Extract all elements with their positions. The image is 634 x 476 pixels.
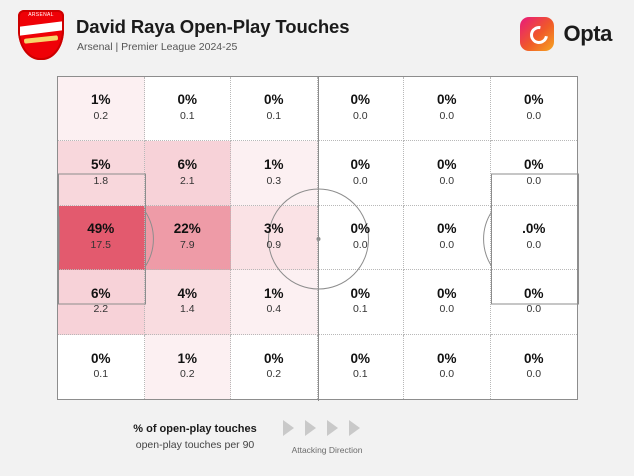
heatmap-cell: 0%0.0 [404,335,491,399]
heatmap-cell-percent: 1% [177,352,197,367]
crest-label: ARSENAL [18,12,64,18]
heatmap-cell-per90: 0.0 [353,239,368,253]
heatmap-cell-per90: 0.0 [526,239,541,253]
heatmap-cell-percent: 0% [437,158,457,173]
heatmap-cell-percent: 0% [524,158,544,173]
heatmap-cell: 3%0.9 [231,206,318,270]
heatmap-cell-per90: 0.4 [266,303,281,317]
heatmap-cell-per90: 1.4 [180,303,195,317]
heatmap-cell-percent: 0% [350,287,370,302]
heatmap-cell: 0%0.0 [491,335,578,399]
page-subtitle: Arsenal | Premier League 2024-25 [77,41,237,53]
heatmap-cell: 0%0.1 [318,335,405,399]
heatmap-cell: 5%1.8 [58,141,145,205]
heatmap-cell-per90: 0.0 [439,110,454,124]
heatmap-cell: 0%0.1 [145,77,232,141]
heatmap-cell: 0%0.0 [491,141,578,205]
heatmap-cell-per90: 17.5 [91,239,111,253]
arrow-right-icon [305,420,316,436]
attacking-direction-label: Attacking Direction [283,445,371,455]
heatmap-cell: 1%0.2 [145,335,232,399]
legend-primary-label: % of open-play touches [100,423,290,435]
footer: % of open-play touches open-play touches… [0,408,634,476]
heatmap-cell-per90: 0.2 [266,368,281,382]
heatmap-cell-percent: 6% [177,158,197,173]
heatmap-cell-per90: 0.2 [180,368,195,382]
heatmap-cell-per90: 0.3 [266,175,281,189]
heatmap-cell-percent: 1% [264,287,284,302]
legend-secondary-label: open-play touches per 90 [100,439,290,451]
heatmap-cell-percent: 5% [91,158,111,173]
heatmap-cell: 0%0.0 [318,206,405,270]
heatmap-cell-percent: 3% [264,222,284,237]
heatmap-cell-percent: 0% [524,93,544,108]
page-title: David Raya Open-Play Touches [76,16,349,38]
heatmap-cell: .0%0.0 [491,206,578,270]
heatmap-cell-percent: 0% [437,352,457,367]
heatmap-cell-per90: 2.2 [93,303,108,317]
heatmap-cell-percent: 0% [350,222,370,237]
header: ARSENAL David Raya Open-Play Touches Ars… [0,0,634,68]
heatmap-cell-percent: 49% [87,222,114,237]
heatmap-cell-percent: 0% [91,352,111,367]
heatmap-cell-per90: 2.1 [180,175,195,189]
heatmap-cell-per90: 0.0 [526,110,541,124]
heatmap-cell-percent: 0% [437,93,457,108]
heatmap-cell: 49%17.5 [58,206,145,270]
heatmap-cell-per90: 0.0 [526,303,541,317]
arrow-right-icon [327,420,338,436]
heatmap-cell: 0%0.0 [491,270,578,334]
heatmap-cell-percent: 1% [91,93,111,108]
legend: % of open-play touches open-play touches… [100,423,290,451]
heatmap-cell-per90: 0.1 [353,303,368,317]
heatmap-cell: 0%0.0 [318,77,405,141]
heatmap-cell: 0%0.1 [58,335,145,399]
heatmap-cell: 0%0.2 [231,335,318,399]
heatmap-cell: 0%0.0 [404,270,491,334]
heatmap-cell-percent: 0% [350,93,370,108]
heatmap-cell-per90: 1.8 [93,175,108,189]
arsenal-crest-icon: ARSENAL [18,10,64,60]
heatmap-cell: 1%0.4 [231,270,318,334]
heatmap-cell: 0%0.0 [404,141,491,205]
heatmap-cell-per90: 0.2 [93,110,108,124]
heatmap-cell-percent: 0% [524,287,544,302]
heatmap-cell: 0%0.0 [491,77,578,141]
heatmap-cell-per90: 0.0 [439,368,454,382]
heatmap-cell-per90: 7.9 [180,239,195,253]
arrow-right-icon [283,420,294,436]
heatmap-cell-percent: .0% [522,222,545,237]
arrow-right-icon [349,420,360,436]
heatmap-cell-percent: 6% [91,287,111,302]
heatmap-cell-per90: 0.1 [93,368,108,382]
heatmap-cell-per90: 0.0 [526,368,541,382]
heatmap-cell-per90: 0.0 [353,175,368,189]
heatmap-cell: 1%0.3 [231,141,318,205]
heatmap-cell-percent: 0% [437,287,457,302]
opta-mark-icon [520,17,554,51]
heatmap-cell: 22%7.9 [145,206,232,270]
heatmap-cell: 1%0.2 [58,77,145,141]
heatmap-cell-per90: 0.0 [439,303,454,317]
heatmap-cell: 0%0.0 [318,141,405,205]
heatmap-cell-percent: 0% [264,352,284,367]
heatmap-cell-per90: 0.1 [266,110,281,124]
heatmap-cell-percent: 4% [177,287,197,302]
heatmap-cell: 6%2.2 [58,270,145,334]
heatmap-cell: 4%1.4 [145,270,232,334]
heatmap-cell: 0%0.0 [404,77,491,141]
heatmap-cell-per90: 0.0 [526,175,541,189]
opta-logo: Opta [520,17,612,51]
heatmap-cell: 0%0.0 [404,206,491,270]
heatmap-cell-percent: 0% [437,222,457,237]
heatmap-cell-percent: 0% [524,352,544,367]
pitch-heatmap: 1%0.20%0.10%0.10%0.00%0.00%0.05%1.86%2.1… [57,76,578,400]
heatmap-cell-percent: 0% [350,352,370,367]
heatmap-cell: 0%0.1 [318,270,405,334]
heatmap-cell-percent: 1% [264,158,284,173]
heatmap-cell-per90: 0.1 [180,110,195,124]
heatmap-cell: 0%0.1 [231,77,318,141]
heatmap-cell-per90: 0.0 [353,110,368,124]
heatmap-cell-percent: 0% [177,93,197,108]
heatmap-cell-percent: 0% [350,158,370,173]
heatmap-grid: 1%0.20%0.10%0.10%0.00%0.00%0.05%1.86%2.1… [58,77,577,399]
heatmap-cell: 6%2.1 [145,141,232,205]
opta-wordmark: Opta [563,21,612,47]
heatmap-cell-per90: 0.9 [266,239,281,253]
heatmap-cell-per90: 0.1 [353,368,368,382]
heatmap-cell-percent: 0% [264,93,284,108]
heatmap-cell-per90: 0.0 [439,239,454,253]
attacking-direction-arrows [283,420,360,436]
heatmap-cell-per90: 0.0 [439,175,454,189]
heatmap-cell-percent: 22% [174,222,201,237]
